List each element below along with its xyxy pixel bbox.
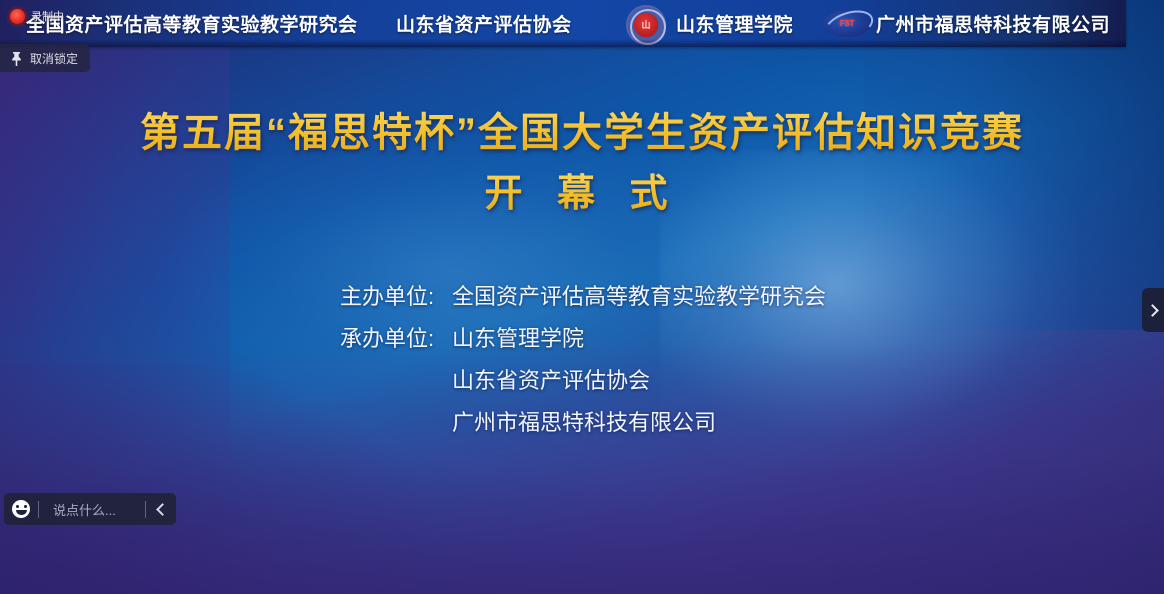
credit-label: 主办单位: (340, 276, 452, 318)
video-player-stage: 全国资产评估高等教育实验教学研究会 山东省资产评估协会 山 山东管理学院 FST… (0, 0, 1164, 594)
credit-row: 广州市福思特科技有限公司 (340, 402, 826, 444)
header-organization-3: 山东管理学院 (676, 10, 793, 37)
header-organization-2: 山东省资产评估协会 (396, 10, 572, 37)
chevron-right-icon (1146, 304, 1159, 317)
credit-value: 山东省资产评估协会 (452, 360, 650, 402)
emoji-picker-button[interactable] (4, 493, 38, 525)
credit-value: 山东管理学院 (452, 318, 584, 360)
collapse-chat-button[interactable] (146, 493, 176, 525)
header-organization-1: 全国资产评估高等教育实验教学研究会 (26, 10, 358, 37)
unlock-pin-label: 取消锁定 (30, 50, 78, 67)
slide-header-banner: 全国资产评估高等教育实验教学研究会 山东省资产评估协会 山 山东管理学院 FST… (0, 0, 1126, 47)
credit-label: 承办单位: (340, 318, 452, 360)
foster-oval-logo-icon: FST (823, 10, 871, 37)
credit-value: 广州市福思特科技有限公司 (452, 402, 716, 444)
credit-row: 山东省资产评估协会 (340, 360, 826, 402)
chat-message-input[interactable]: 说点什么... (39, 500, 145, 519)
unlock-pin-button[interactable]: 取消锁定 (0, 44, 90, 72)
smiley-face-icon (12, 500, 30, 518)
pushpin-icon (10, 51, 23, 66)
chevron-left-icon (156, 503, 169, 516)
recording-dot-icon (10, 9, 25, 24)
recording-indicator: 录制中 (10, 8, 64, 24)
credit-label (340, 402, 452, 444)
slide-title: 第五届“福思特杯”全国大学生资产评估知识竞赛 (0, 100, 1164, 158)
slide-credits: 主办单位: 全国资产评估高等教育实验教学研究会 承办单位: 山东管理学院 山东省… (340, 276, 826, 444)
credit-value: 全国资产评估高等教育实验教学研究会 (452, 276, 826, 318)
chat-input-bar: 说点什么... (4, 493, 176, 525)
slide-subtitle: 开 幕 式 (0, 162, 1164, 217)
credit-row: 主办单位: 全国资产评估高等教育实验教学研究会 (340, 276, 826, 318)
shandong-institute-seal-icon: 山 (622, 5, 670, 45)
header-organization-4: 广州市福思特科技有限公司 (876, 10, 1110, 37)
open-side-panel-button[interactable] (1142, 288, 1164, 332)
recording-status-label: 录制中 (31, 8, 64, 24)
credit-label (340, 360, 452, 402)
credit-row: 承办单位: 山东管理学院 (340, 318, 826, 360)
